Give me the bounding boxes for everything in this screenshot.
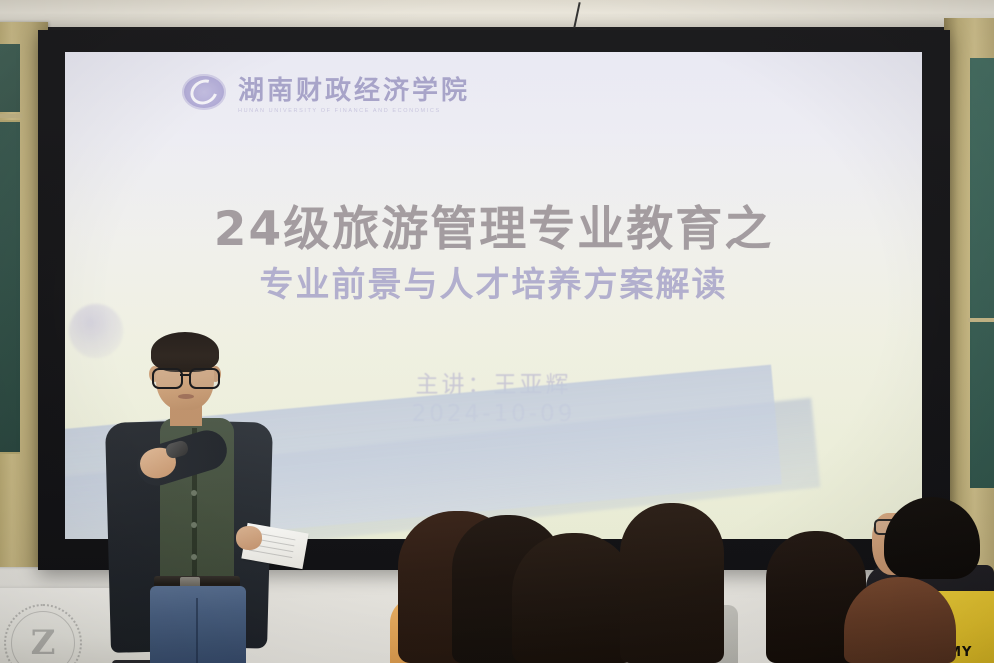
emblem-swirl-icon xyxy=(186,75,222,109)
ceiling-strip xyxy=(0,0,994,28)
lecturer-jeans xyxy=(150,586,246,663)
slide-title-main: 24级旅游管理专业教育之 xyxy=(65,190,922,259)
university-name-en: HUNAN UNIVERSITY OF FINANCE AND ECONOMIC… xyxy=(238,108,470,114)
lecturer-jeans-seam xyxy=(196,598,198,663)
chalkboard-left-panel xyxy=(0,120,20,454)
chalkboard-right-panel xyxy=(970,58,994,488)
audience-member xyxy=(620,503,724,663)
audience-member xyxy=(512,533,636,663)
classroom-photo: 湖南财政经济学院 HUNAN UNIVERSITY OF FINANCE AND… xyxy=(0,0,994,663)
lecturer-shirt-button xyxy=(191,554,197,560)
audience-hair xyxy=(512,533,636,663)
audience-hair xyxy=(620,503,724,663)
audience-member xyxy=(844,577,956,663)
eyeglass-lens-left xyxy=(152,368,183,389)
lecturer-shirt-button xyxy=(191,522,197,528)
university-logo: 湖南财政经济学院 HUNAN UNIVERSITY OF FINANCE AND… xyxy=(182,70,470,114)
slide-title-sub: 专业前景与人才培养方案解读 xyxy=(65,257,922,306)
lecturer-hair xyxy=(151,332,219,372)
lecturer-mouth xyxy=(178,394,194,399)
lecturer xyxy=(104,330,300,663)
eyeglasses-icon xyxy=(151,368,221,385)
eyeglass-lens-right xyxy=(189,368,220,389)
lecturer-shirt-button xyxy=(191,490,197,496)
chalkboard-left-upper-panel xyxy=(0,44,20,112)
lectern-seal-icon: Z xyxy=(4,604,82,663)
audience-hair xyxy=(844,577,956,663)
audience-hair xyxy=(884,497,980,579)
university-logo-text: 湖南财政经济学院 HUNAN UNIVERSITY OF FINANCE AND… xyxy=(238,70,470,114)
lecturer-hand-right xyxy=(236,526,262,550)
university-emblem-icon xyxy=(182,74,226,110)
chalkboard-right-rail xyxy=(968,318,994,322)
chalkboard-left-rail xyxy=(0,114,22,118)
university-name-cn: 湖南财政经济学院 xyxy=(238,70,470,107)
